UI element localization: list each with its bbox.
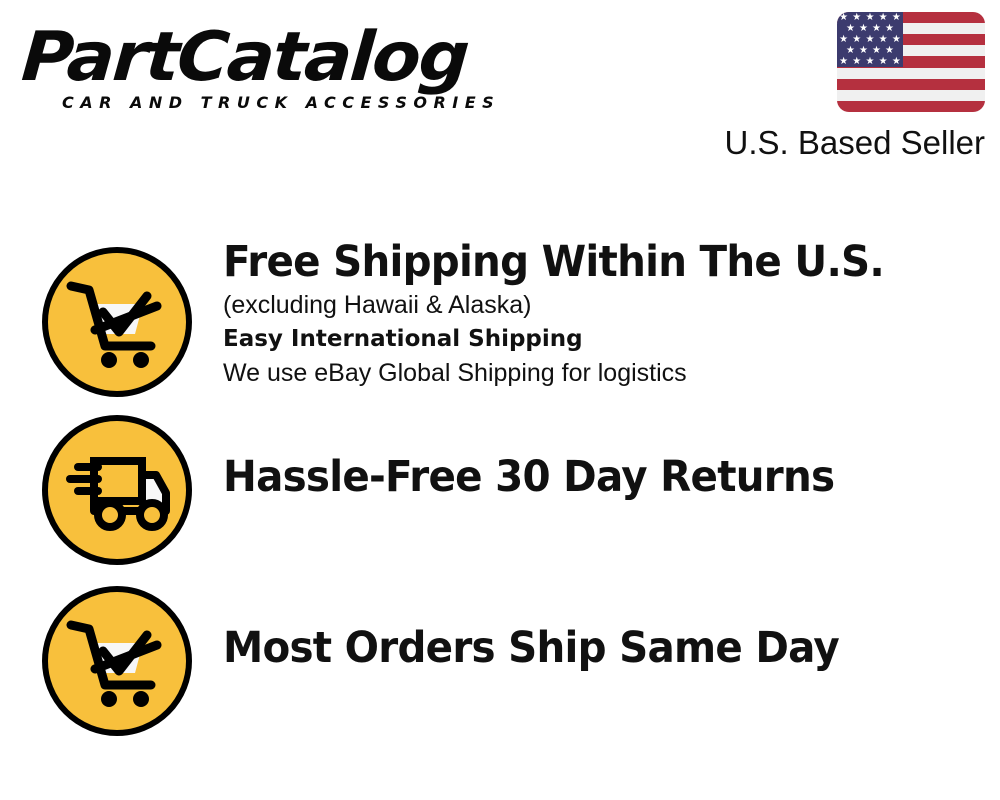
seller-label: U.S. Based Seller: [715, 123, 985, 163]
delivery-truck-icon: [42, 415, 192, 565]
feature-list: Free Shipping Within The U.S. (excluding…: [0, 232, 1000, 745]
logo-wordmark: PartCatalog: [19, 20, 513, 96]
feature-subtext: (excluding Hawaii & Alaska): [223, 288, 983, 322]
feature-row: Free Shipping Within The U.S. (excluding…: [0, 232, 1000, 403]
flag-canton: ★★★★★ ★★★★ ★★★★★ ★★★★ ★★★★★: [837, 12, 903, 67]
feature-text-block: Free Shipping Within The U.S. (excluding…: [223, 236, 983, 390]
feature-heading: Free Shipping Within The U.S.: [223, 236, 937, 288]
shopping-cart-check-icon: [42, 586, 192, 736]
feature-text-block: Most Orders Ship Same Day: [223, 622, 983, 674]
feature-row: Most Orders Ship Same Day: [0, 574, 1000, 745]
feature-heading: Most Orders Ship Same Day: [223, 622, 937, 674]
feature-row: Hassle-Free 30 Day Returns: [0, 403, 1000, 574]
shopping-cart-check-icon: [42, 247, 192, 397]
us-flag-icon: ★★★★★ ★★★★ ★★★★★ ★★★★ ★★★★★: [837, 12, 985, 112]
feature-heading: Hassle-Free 30 Day Returns: [223, 451, 937, 503]
banner-header: PartCatalog CAR AND TRUCK ACCESSORIES ★★…: [0, 0, 1000, 170]
us-based-seller-badge: ★★★★★ ★★★★ ★★★★★ ★★★★ ★★★★★ U.S. Based S…: [715, 12, 985, 163]
feature-text-block: Hassle-Free 30 Day Returns: [223, 451, 983, 503]
feature-subtext-bold: Easy International Shipping: [223, 322, 983, 356]
feature-subtext: We use eBay Global Shipping for logistic…: [223, 356, 983, 390]
brand-logo: PartCatalog CAR AND TRUCK ACCESSORIES: [22, 20, 492, 112]
